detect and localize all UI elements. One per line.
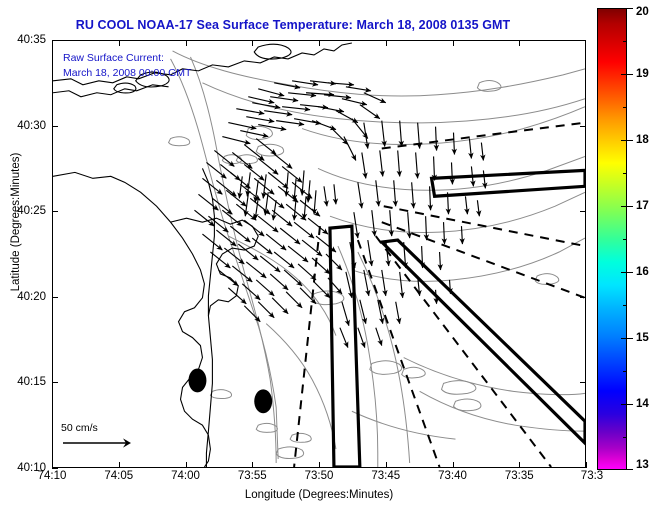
x-tick-label: 73:40 (438, 470, 467, 482)
sst-figure: RU COOL NOAA-17 Sea Surface Temperature:… (0, 0, 651, 518)
y-tick (52, 382, 58, 383)
y-tick-right (580, 126, 586, 127)
shipping-lanes (330, 170, 585, 467)
x-tick (252, 462, 253, 468)
colorbar-tick (621, 8, 627, 9)
station-markers[interactable] (188, 368, 272, 413)
colorbar-minor-tick (623, 437, 627, 438)
colorbar-minor-tick (623, 371, 627, 372)
y-tick (52, 297, 58, 298)
colorbar-tick (621, 206, 627, 207)
colorbar-tick (627, 8, 633, 9)
colorbar-tick (621, 338, 627, 339)
colorbar-minor-tick (623, 239, 627, 240)
y-axis-title: Latitude (Degrees:Minutes) (10, 112, 22, 332)
x-tick-top (252, 40, 253, 46)
colorbar-tick-label: 18 (636, 134, 649, 146)
vector-scale-bar: 50 cm/s (61, 422, 141, 455)
colorbar-tick (627, 74, 633, 75)
x-tick-top (519, 40, 520, 46)
colorbar: 20 19 18 17 16 15 14 13 (597, 8, 627, 470)
colorbar-minor-tick (623, 173, 627, 174)
annotation-line-1: Raw Surface Current: (63, 51, 191, 66)
colorbar-tick (627, 206, 633, 207)
page-title: RU COOL NOAA-17 Sea Surface Temperature:… (0, 18, 586, 32)
y-tick (52, 126, 58, 127)
scale-bar-label: 50 cm/s (61, 422, 141, 434)
arrow-right-icon (61, 436, 141, 450)
colorbar-minor-tick (623, 41, 627, 42)
y-tick (52, 468, 58, 469)
y-tick-label: 40:10 (4, 462, 46, 474)
annotation-line-2: March 18, 2008 00:00 GMT (63, 66, 191, 81)
x-tick (586, 462, 587, 468)
x-tick (319, 462, 320, 468)
colorbar-tick-label: 14 (636, 398, 649, 410)
x-tick-top (119, 40, 120, 46)
x-tick (186, 462, 187, 468)
x-tick-top (453, 40, 454, 46)
x-tick-label: 73:35 (505, 470, 534, 482)
x-tick (386, 462, 387, 468)
x-tick-label: 74:05 (104, 470, 133, 482)
map-plot-area[interactable]: Raw Surface Current: March 18, 2008 00:0… (52, 40, 586, 468)
x-tick-label: 73:55 (238, 470, 267, 482)
colorbar-tick (627, 272, 633, 273)
y-tick (52, 40, 58, 41)
x-tick-label: 73:50 (305, 470, 334, 482)
colorbar-tick (627, 404, 633, 405)
traffic-separation-lines (294, 123, 585, 467)
colorbar-tick (627, 140, 633, 141)
colorbar-tick (627, 469, 633, 470)
x-tick-label: 73:3 (581, 470, 603, 482)
colorbar-tick-label: 20 (636, 6, 649, 18)
x-axis-title: Longitude (Degrees:Minutes) (52, 489, 586, 501)
x-tick-top (386, 40, 387, 46)
colorbar-minor-tick (623, 305, 627, 306)
y-tick-label: 40:15 (4, 376, 46, 388)
colorbar-tick (621, 74, 627, 75)
colorbar-minor-tick (623, 107, 627, 108)
colorbar-tick-label: 16 (636, 266, 649, 278)
y-tick-right (580, 382, 586, 383)
x-tick-label: 74:00 (171, 470, 200, 482)
surface-current-vectors (194, 81, 485, 348)
x-tick-top (186, 40, 187, 46)
sst-contours (169, 51, 585, 467)
coastline (53, 43, 352, 467)
station-marker (188, 368, 206, 392)
colorbar-tick (621, 140, 627, 141)
colorbar-tick (621, 272, 627, 273)
colorbar-tick-label: 13 (636, 459, 649, 471)
y-tick (52, 211, 58, 212)
colorbar-tick (627, 338, 633, 339)
y-tick-right (580, 297, 586, 298)
x-tick (119, 462, 120, 468)
y-tick-right (580, 211, 586, 212)
x-tick-label: 73:45 (371, 470, 400, 482)
raw-current-annotation: Raw Surface Current: March 18, 2008 00:0… (63, 51, 191, 81)
colorbar-tick (621, 404, 627, 405)
colorbar-tick (621, 469, 627, 470)
colorbar-tick-label: 15 (636, 332, 649, 344)
colorbar-tick-label: 17 (636, 200, 649, 212)
y-tick-label: 40:35 (4, 34, 46, 46)
x-tick (519, 462, 520, 468)
colorbar-tick-label: 19 (636, 68, 649, 80)
x-tick-top (319, 40, 320, 46)
map-canvas (53, 41, 585, 467)
x-tick (453, 462, 454, 468)
station-marker (254, 389, 272, 413)
